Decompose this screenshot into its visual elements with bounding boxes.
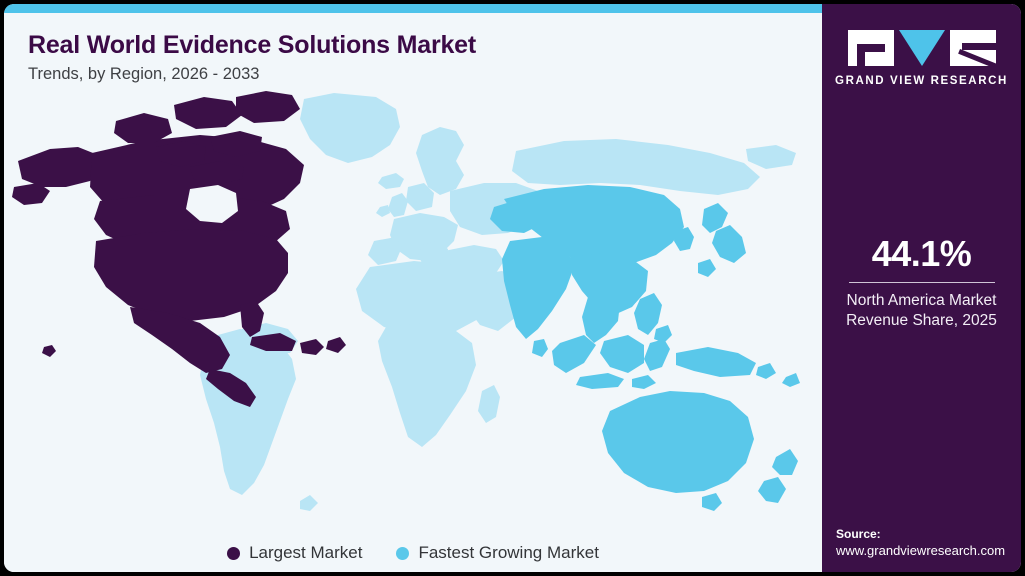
legend-label: Fastest Growing Market	[418, 543, 598, 563]
stat-value: 44.1%	[822, 236, 1021, 272]
brand-logo: GRAND VIEW RESEARCH	[822, 30, 1021, 87]
map-section: Real World Evidence Solutions Market Tre…	[4, 13, 822, 572]
legend-item-fastest-growing-market: Fastest Growing Market	[396, 543, 598, 563]
world-map-svg	[4, 91, 822, 521]
legend-item-largest-market: Largest Market	[227, 543, 362, 563]
logo-r-icon	[950, 30, 996, 66]
legend-label: Largest Market	[249, 543, 362, 563]
brand-name: GRAND VIEW RESEARCH	[835, 75, 1008, 87]
stat-label-line2: Revenue Share, 2025	[822, 311, 1021, 331]
source-url[interactable]: www.grandviewresearch.com	[836, 543, 1016, 558]
stat-divider	[849, 282, 995, 283]
page-title: Real World Evidence Solutions Market	[28, 31, 476, 60]
world-map	[4, 91, 822, 521]
dot-icon	[227, 547, 240, 560]
side-panel: GRAND VIEW RESEARCH 44.1% North America …	[822, 4, 1021, 572]
page-subtitle: Trends, by Region, 2026 - 2033	[28, 65, 259, 84]
legend: Largest Market Fastest Growing Market	[4, 533, 822, 572]
infographic-card: Real World Evidence Solutions Market Tre…	[4, 4, 1021, 572]
accent-strip	[4, 4, 822, 13]
dot-icon	[396, 547, 409, 560]
logo-g-icon	[848, 30, 894, 66]
stat-block: 44.1% North America Market Revenue Share…	[822, 236, 1021, 331]
logo-marks	[848, 30, 996, 66]
stat-label-line1: North America Market	[822, 291, 1021, 311]
source-title: Source:	[836, 527, 1016, 541]
source-block: Source: www.grandviewresearch.com	[836, 527, 1016, 558]
logo-v-triangle-icon	[899, 30, 945, 66]
